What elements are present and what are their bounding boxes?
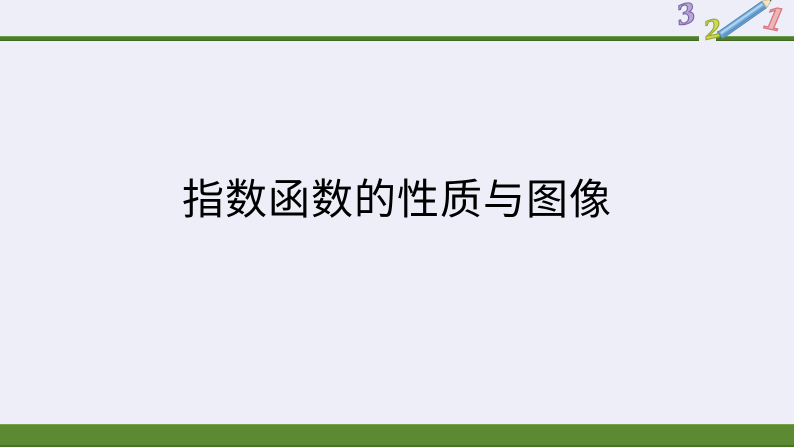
bottom-band [0, 424, 794, 447]
slide-canvas: 3 2 1 [0, 0, 794, 447]
title-block: 指数函数的性质与图像 [0, 0, 794, 447]
page-title: 指数函数的性质与图像 [182, 177, 612, 222]
